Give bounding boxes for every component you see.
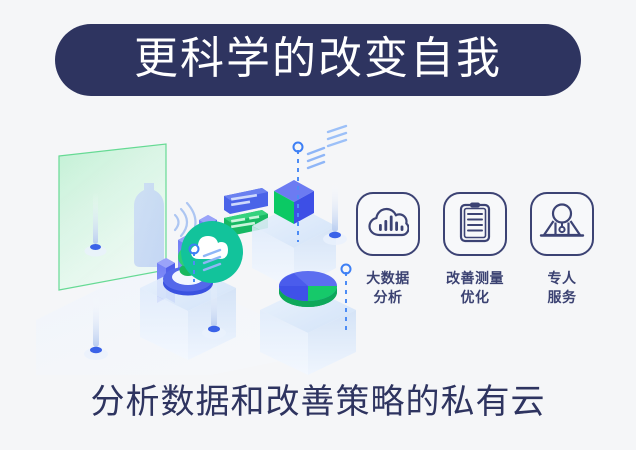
feature-list: 大数据 分析 — [352, 192, 598, 307]
feature-big-data-analysis[interactable]: 大数据 分析 — [352, 192, 424, 307]
promo-banner-root: 更科学的改变自我 — [0, 0, 636, 450]
feature-card[interactable] — [443, 192, 507, 256]
page-title: 更科学的改变自我 — [134, 37, 502, 81]
hero-illustration — [36, 120, 356, 375]
feature-label: 专人 服务 — [548, 269, 577, 307]
clipboard-icon — [458, 201, 492, 248]
glass-panel-with-bottle — [59, 144, 196, 290]
feature-label: 大数据 分析 — [366, 269, 410, 307]
cloud-bar-chart-icon — [367, 205, 409, 244]
tag-label-blue — [224, 188, 268, 214]
feature-label: 改善测量 优化 — [446, 269, 504, 307]
page-caption: 分析数据和改善策略的私有云 — [0, 385, 636, 419]
feature-improvement-measurement[interactable]: 改善测量 优化 — [439, 192, 511, 307]
feature-card[interactable] — [530, 192, 594, 256]
service-person-icon — [539, 202, 585, 247]
page-title-banner: 更科学的改变自我 — [55, 24, 581, 96]
feature-card[interactable] — [356, 192, 420, 256]
feature-dedicated-service[interactable]: 专人 服务 — [526, 192, 598, 307]
